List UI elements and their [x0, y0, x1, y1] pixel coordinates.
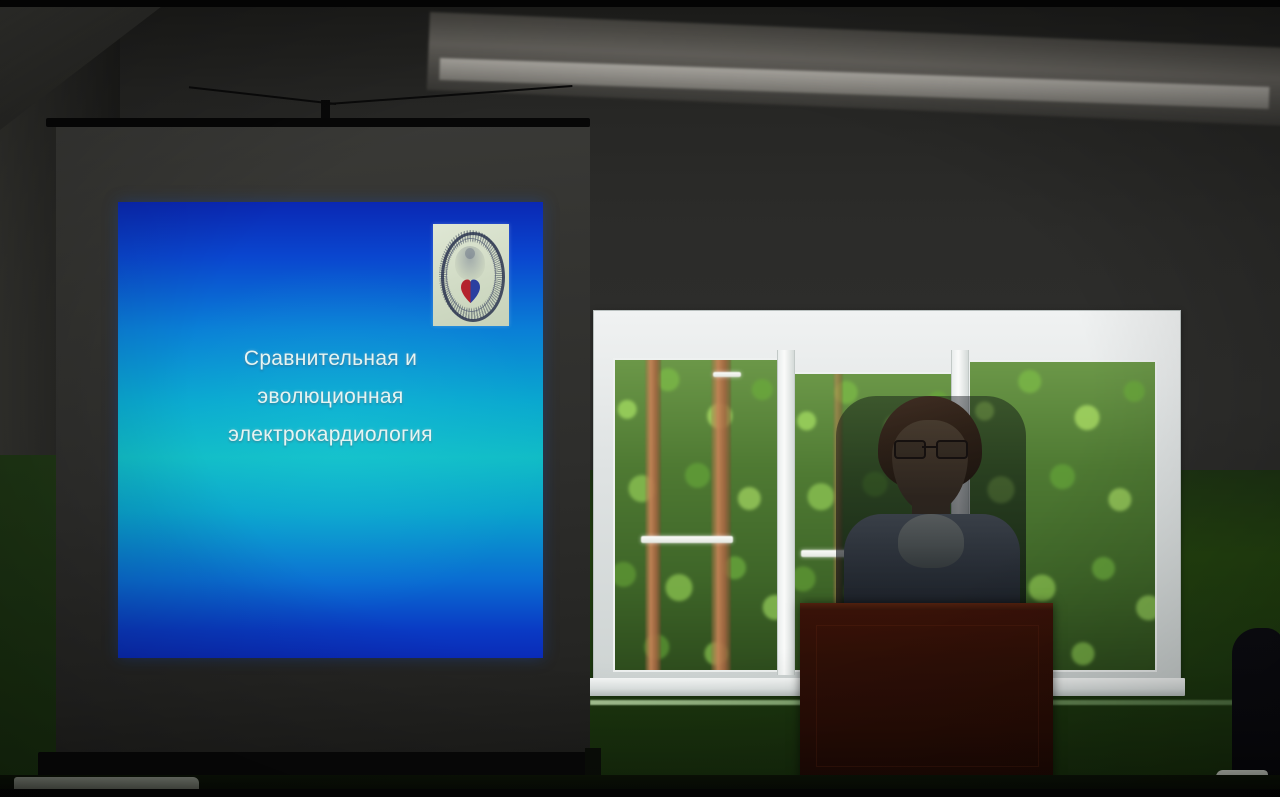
lecture-hall-scene: Сравнительная и эволюционная электрокард… — [0, 0, 1280, 797]
tree-trunk — [645, 358, 661, 672]
window-mullion — [777, 350, 795, 675]
projection-screen: Сравнительная и эволюционная электрокард… — [38, 118, 590, 763]
screen-top-bar — [46, 118, 590, 127]
window-pane-left — [613, 358, 782, 672]
slide-title-line-2: эволюционная — [118, 378, 543, 416]
slide-title-line-3: электрокардиология — [118, 416, 543, 454]
video-letterbox-top — [0, 0, 1280, 7]
tree-trunk — [711, 358, 731, 672]
lectern-front-panel — [816, 625, 1039, 767]
video-letterbox-bottom — [0, 789, 1280, 797]
foliage-left — [613, 358, 782, 672]
emblem-figure-head — [465, 248, 475, 259]
eyeglass-lens-left — [894, 440, 926, 459]
presenter — [836, 396, 1026, 626]
presenter-collar — [898, 514, 964, 568]
window-reflection-bar — [641, 536, 733, 543]
wooden-lectern — [800, 603, 1053, 793]
lectern-top-edge — [800, 603, 1053, 610]
seated-silhouette — [1232, 628, 1280, 788]
heart-icon — [460, 278, 481, 304]
presenter-face — [892, 420, 968, 512]
projected-slide: Сравнительная и эволюционная электрокард… — [118, 202, 543, 658]
window-reflection-bar — [713, 372, 741, 377]
eyeglass-bridge — [922, 446, 936, 448]
eyeglasses-icon — [892, 440, 968, 455]
foreground-object — [14, 777, 199, 789]
eyeglass-lens-right — [936, 440, 968, 459]
floor-object-small — [585, 748, 601, 778]
institute-emblem — [433, 224, 509, 326]
slide-title: Сравнительная и эволюционная электрокард… — [118, 340, 543, 454]
slide-title-line-1: Сравнительная и — [118, 340, 543, 378]
